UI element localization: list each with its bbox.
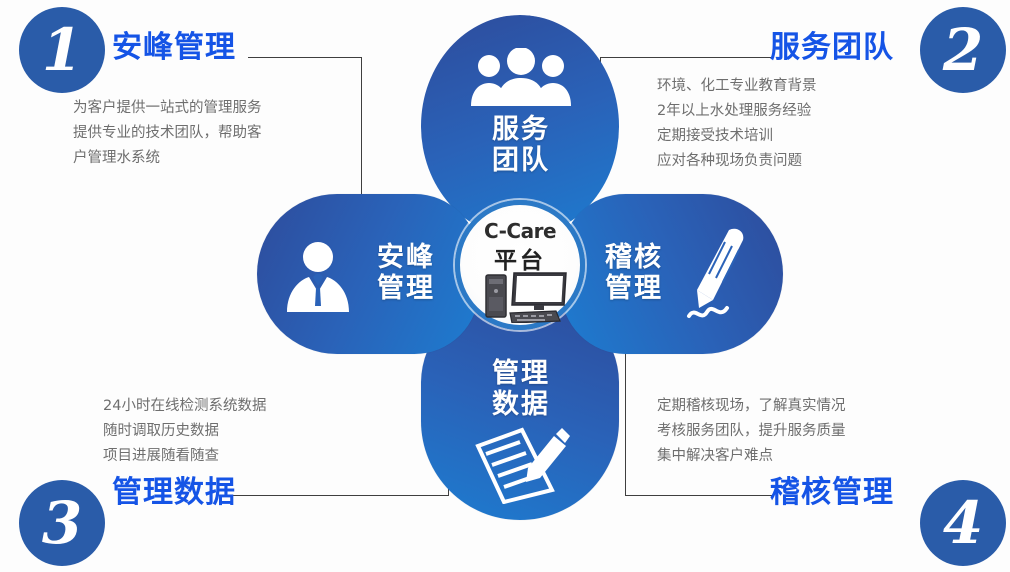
body-line: 户管理水系统 (73, 146, 262, 171)
hub-brand-label: C-Care (460, 219, 580, 243)
petal-label-service-team: 服务 团队 (451, 114, 591, 176)
petal-label-audit-management: 稽核 管理 (579, 242, 689, 304)
petal-cluster: 服务 团队 管理 数据 安 (255, 10, 785, 525)
body-line: 项目进展随看随查 (103, 444, 266, 469)
quadrant-title-4: 稽核管理 (770, 467, 894, 511)
petal-label-anfeng-management: 安峰 管理 (351, 242, 461, 304)
number-badge-3: 3 (19, 480, 105, 566)
pencil-icon (683, 228, 763, 324)
body-line: 随时调取历史数据 (103, 419, 266, 444)
body-line: 提供专业的技术团队，帮助客 (73, 121, 262, 146)
body-line: 为客户提供一站式的管理服务 (73, 96, 262, 121)
petal-label-line: 团队 (451, 145, 591, 176)
hub-subtitle-label: 平台 (460, 241, 580, 275)
center-hub[interactable]: C-Care 平台 (455, 200, 585, 330)
quadrant-title-3: 管理数据 (112, 467, 236, 511)
quadrant-title-1: 安峰管理 (112, 22, 236, 66)
desktop-computer-icon (484, 271, 568, 323)
clipboard-pencil-icon (470, 416, 572, 504)
quadrant-body-1: 为客户提供一站式的管理服务 提供专业的技术团队，帮助客 户管理水系统 (73, 96, 262, 171)
people-group-icon (467, 48, 575, 106)
infographic-canvas: 1 2 3 4 安峰管理 服务团队 管理数据 稽核管理 为客户提供一站式的管理服… (0, 0, 1010, 572)
body-line: 24小时在线检测系统数据 (103, 394, 266, 419)
number-badge-2: 2 (920, 7, 1006, 93)
businessman-icon (285, 240, 351, 312)
petal-label-management-data: 管理 数据 (451, 358, 591, 420)
petal-label-line: 服务 (451, 114, 591, 145)
petal-label-line: 稽核 (579, 242, 689, 273)
number-badge-4: 4 (920, 480, 1006, 566)
quadrant-body-3: 24小时在线检测系统数据 随时调取历史数据 项目进展随看随查 (103, 394, 266, 469)
petal-label-line: 管理 (451, 358, 591, 389)
quadrant-title-2: 服务团队 (770, 22, 894, 66)
petal-label-line: 安峰 (351, 242, 461, 273)
petal-label-line: 管理 (579, 273, 689, 304)
petal-label-line: 管理 (351, 273, 461, 304)
number-badge-1: 1 (19, 7, 105, 93)
